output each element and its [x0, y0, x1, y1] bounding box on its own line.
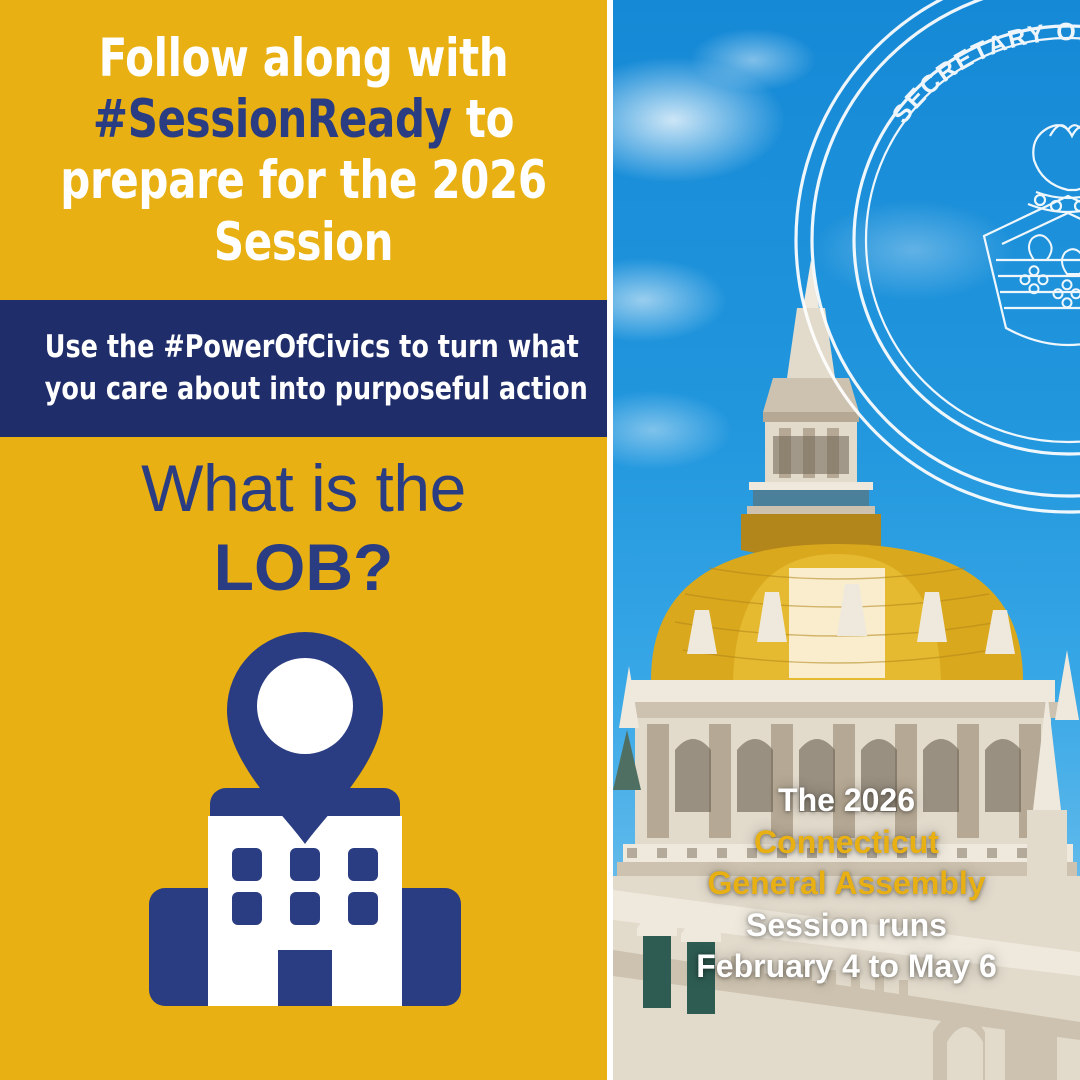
location-pin-building-icon	[60, 620, 550, 1020]
social-graphic-canvas: Follow along with #SessionReady to prepa…	[0, 0, 1080, 1080]
caption-line-2: Connecticut	[623, 822, 1070, 864]
caption-line-3: General Assembly	[623, 863, 1070, 905]
navy-band-line-1: Use the #PowerOfCivics to turn what	[45, 327, 563, 369]
headline-line-4: Session	[36, 212, 570, 273]
headline-line-2-suffix: to	[452, 89, 514, 150]
session-ready-hashtag: #SessionReady	[93, 89, 452, 150]
caption-line-4: Session runs	[623, 905, 1070, 947]
headline: Follow along with #SessionReady to prepa…	[36, 28, 570, 273]
question-line-2: LOB?	[0, 531, 607, 605]
headline-line-3: prepare for the 2026	[36, 150, 570, 211]
navy-message-band: Use the #PowerOfCivics to turn what you …	[0, 300, 607, 437]
navy-band-text: Use the #PowerOfCivics to turn what you …	[45, 327, 563, 410]
session-dates-caption: The 2026 Connecticut General Assembly Se…	[613, 780, 1080, 988]
caption-line-1: The 2026	[623, 780, 1070, 822]
headline-line-1: Follow along with	[36, 28, 570, 89]
left-gold-panel: Follow along with #SessionReady to prepa…	[0, 0, 607, 1080]
secretary-of-the-state-seal-watermark: SECRETARY OF THE STATE	[788, 0, 1080, 520]
capitol-photo-panel: SECRETARY OF THE STATE	[613, 0, 1080, 1080]
headline-line-2: #SessionReady to	[36, 89, 570, 150]
navy-band-line-2: you care about into purposeful action	[45, 369, 563, 411]
caption-line-5: February 4 to May 6	[623, 946, 1070, 988]
question-line-1: What is the	[0, 455, 607, 521]
question-block: What is the LOB?	[0, 455, 607, 605]
